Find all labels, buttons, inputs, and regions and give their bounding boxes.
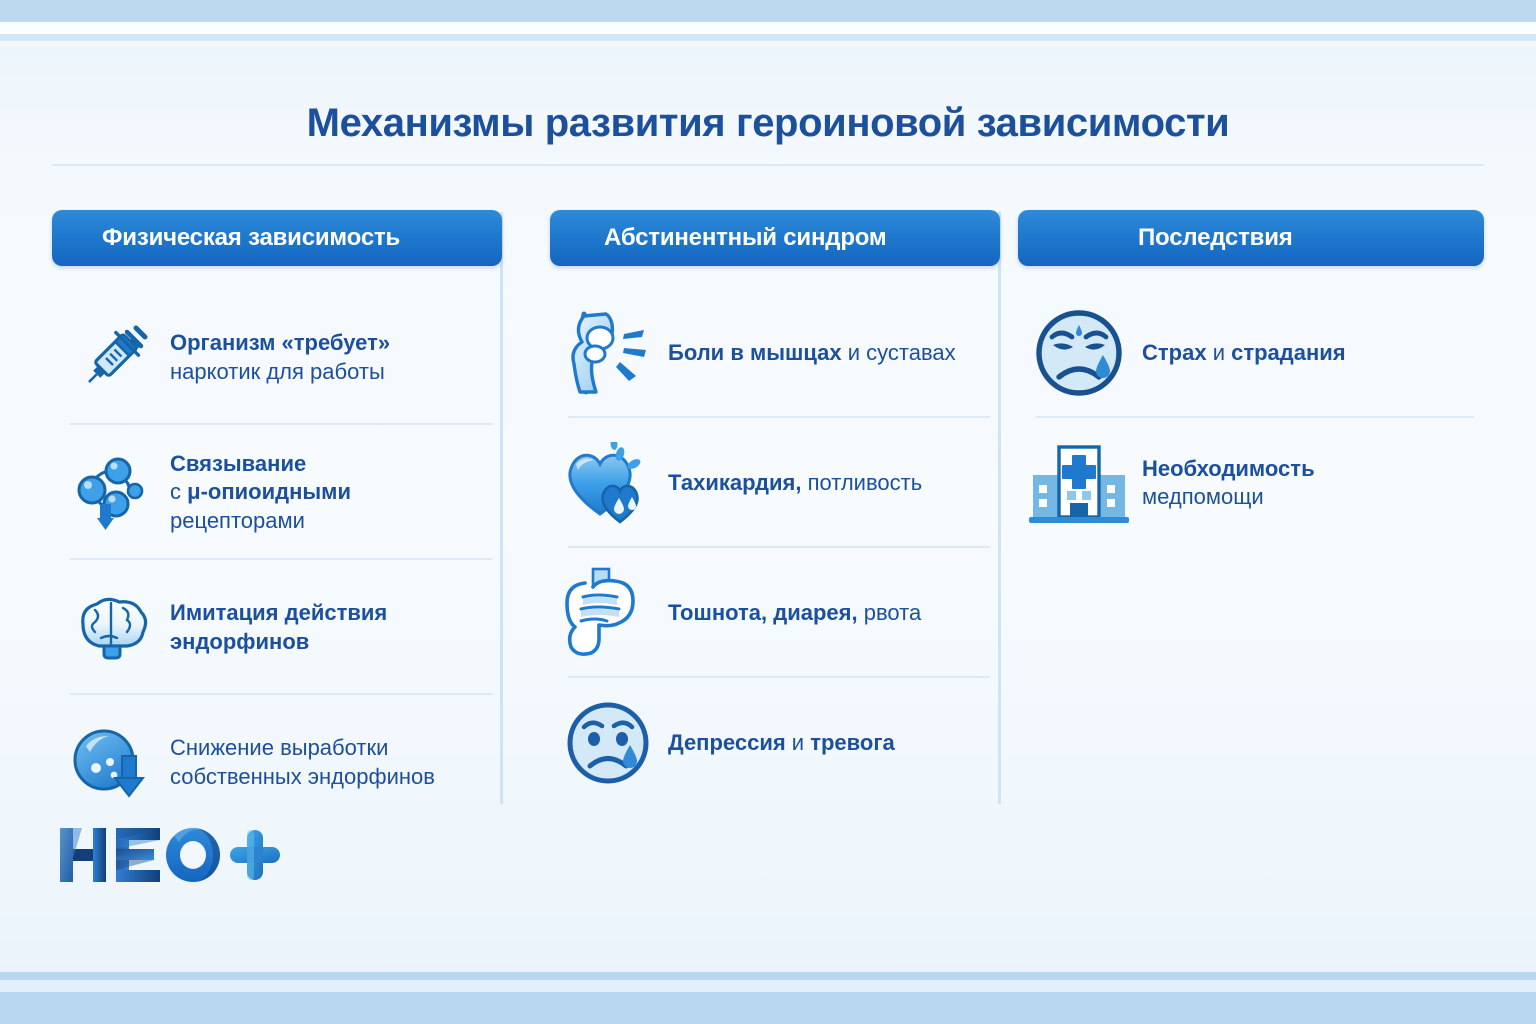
- item-text-regular: и: [1207, 340, 1232, 365]
- item-list-withdrawal-syndrome: Боли в мышцах и суставах: [550, 288, 1000, 808]
- list-item-label: Тахикардия, потливость: [668, 469, 922, 497]
- item-text-bold: Связывание: [170, 451, 306, 476]
- item-text-bold-2: μ-опиоидными: [187, 479, 351, 504]
- list-item-label: Депрессия и тревога: [668, 729, 895, 757]
- list-item[interactable]: Необходимость медпомощи: [1018, 418, 1484, 548]
- column-header-withdrawal-syndrome[interactable]: Абстинентный синдром: [550, 210, 1000, 266]
- list-item-label: Тошнота, диарея, рвота: [668, 599, 921, 627]
- top-decorative-band-3: [0, 34, 1536, 41]
- list-item[interactable]: Тошнота, диарея, рвота: [550, 548, 1000, 678]
- item-text-bold: Депрессия: [668, 730, 786, 755]
- top-decorative-band-4: [0, 41, 1536, 47]
- list-item[interactable]: Депрессия и тревога: [550, 678, 1000, 808]
- top-decorative-band-1: [0, 0, 1536, 22]
- list-item-label: Связывание с μ-опиоидными рецепторами: [170, 450, 351, 534]
- bottom-decorative-band-3: [0, 992, 1536, 1024]
- list-item[interactable]: Боли в мышцах и суставах: [550, 288, 1000, 418]
- top-decorative-band-2: [0, 22, 1536, 34]
- item-list-physical-dependence: Организм «требует» наркотик для работы: [52, 290, 502, 830]
- item-text-regular: потливость: [801, 470, 922, 495]
- item-text-bold-2: страдания: [1231, 340, 1346, 365]
- item-text-regular: медпомощи: [1142, 484, 1264, 509]
- item-text-regular: Снижение выработки: [170, 735, 388, 760]
- list-item[interactable]: Страх и страдания: [1018, 288, 1484, 418]
- list-item[interactable]: Связывание с μ-опиоидными рецепторами: [52, 425, 502, 560]
- column-header-label: Абстинентный синдром: [604, 224, 886, 252]
- heart-sweat-icon: [560, 442, 656, 524]
- list-item[interactable]: Тахикардия, потливость: [550, 418, 1000, 548]
- title-divider: [52, 164, 1484, 166]
- column-physical-dependence: Физическая зависимость: [52, 210, 502, 830]
- fear-face-icon: [1028, 307, 1130, 399]
- column-consequences: Последствия: [1000, 210, 1484, 830]
- list-item-label: Необходимость медпомощи: [1142, 455, 1315, 511]
- item-text-bold: Страх: [1142, 340, 1207, 365]
- list-item[interactable]: Имитация действия эндорфинов: [52, 560, 502, 695]
- brain-icon: [70, 594, 156, 662]
- item-text-regular: рвота: [858, 600, 922, 625]
- column-header-consequences[interactable]: Последствия: [1018, 210, 1484, 266]
- infographic-slide: Механизмы развития героиновой зависимост…: [0, 0, 1536, 1024]
- syringe-icon: [70, 320, 156, 396]
- item-list-consequences: Страх и страдания: [1018, 288, 1484, 548]
- item-text-bold-2: эндорфинов: [170, 629, 309, 654]
- columns-container: Физическая зависимость: [52, 210, 1484, 830]
- item-text-bold: Необходимость: [1142, 456, 1315, 481]
- column-header-label: Физическая зависимость: [102, 224, 400, 252]
- item-text-bold: Тахикардия,: [668, 470, 801, 495]
- item-text-bold: Боли в мышцах: [668, 340, 842, 365]
- bottom-decorative-band-1: [0, 972, 1536, 980]
- sad-face-tear-icon: [560, 699, 656, 787]
- item-text-regular: рецепторами: [170, 508, 305, 533]
- list-item-label: Организм «требует» наркотик для работы: [170, 329, 390, 385]
- page-title: Механизмы развития героиновой зависимост…: [0, 101, 1536, 146]
- column-header-physical-dependence[interactable]: Физическая зависимость: [52, 210, 502, 266]
- item-text-regular-2: собственных эндорфинов: [170, 764, 435, 789]
- bottom-decorative-band-2: [0, 980, 1536, 992]
- joint-pain-icon: [560, 310, 656, 396]
- hospital-icon: [1028, 439, 1130, 527]
- intestine-icon: [560, 567, 656, 659]
- list-item-label: Имитация действия эндорфинов: [170, 599, 387, 655]
- item-text-bold: Организм «требует»: [170, 330, 390, 355]
- endorphin-decrease-icon: [70, 724, 156, 802]
- item-text-regular: и суставах: [842, 340, 956, 365]
- column-withdrawal-syndrome: Абстинентный синдром: [502, 210, 1000, 830]
- molecule-receptor-icon: [70, 452, 156, 534]
- item-text-regular-prefix: с: [170, 479, 187, 504]
- list-item[interactable]: Организм «требует» наркотик для работы: [52, 290, 502, 425]
- list-item-label: Снижение выработки собственных эндорфино…: [170, 734, 435, 790]
- item-text-bold: Имитация действия: [170, 600, 387, 625]
- list-item-label: Боли в мышцах и суставах: [668, 339, 956, 367]
- item-text-bold: Тошнота, диарея,: [668, 600, 858, 625]
- item-text-regular: наркотик для работы: [170, 359, 385, 384]
- list-item[interactable]: Снижение выработки собственных эндорфино…: [52, 695, 502, 830]
- list-item-label: Страх и страдания: [1142, 339, 1346, 367]
- item-text-regular: и: [786, 730, 811, 755]
- item-text-bold-2: тревога: [810, 730, 895, 755]
- neo-plus-logo[interactable]: [60, 818, 290, 890]
- column-header-label: Последствия: [1138, 224, 1293, 252]
